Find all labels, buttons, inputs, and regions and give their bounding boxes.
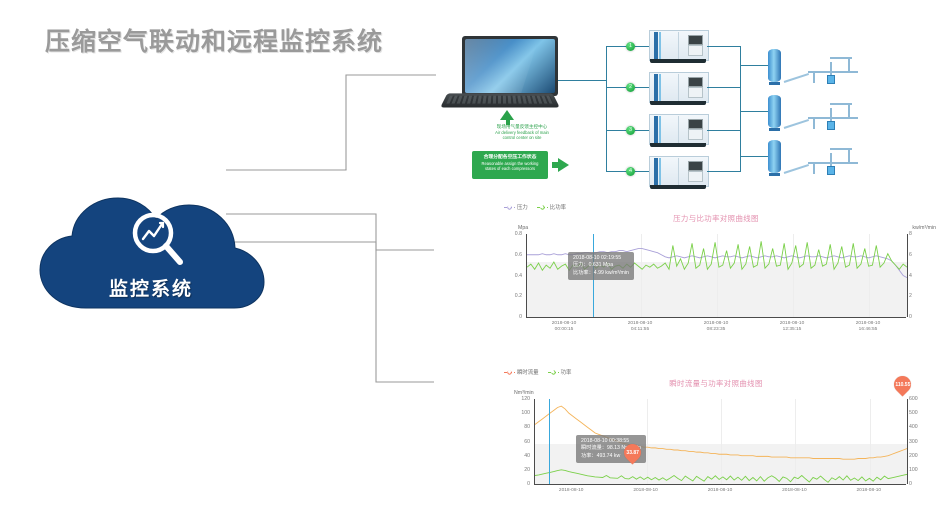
x-tick-date: 2018-08-10: [839, 488, 899, 494]
air-tank-icon: [768, 49, 781, 82]
y-tick-label-right: 500: [909, 410, 918, 416]
air-tool-icon: [827, 121, 835, 130]
y-tick-label-right: 100: [909, 467, 918, 473]
chart1-title: 压力与比功率对照曲线图: [496, 213, 936, 224]
bus-trunk-left: [606, 46, 607, 172]
right-arrow-icon: [558, 158, 569, 172]
y-tick-label: 0: [508, 481, 530, 487]
legend-item[interactable]: 比功率: [537, 203, 566, 211]
x-tick-label: 2018-08-1016:46:55: [838, 321, 898, 333]
air-compressor-icon: [649, 114, 707, 147]
air-compressor-icon: [649, 156, 707, 189]
green-callout-cn: 合理分配各空压工作状态: [472, 154, 548, 161]
cloud-label: 监控系统: [26, 274, 276, 301]
x-tick-label: 2018-08-10: [764, 488, 824, 494]
marker-label: 110.55: [895, 382, 910, 388]
legend-label: 功率: [561, 368, 572, 376]
air-tank-icon: [768, 140, 781, 173]
air-tool-icon: [827, 166, 835, 175]
marker-label: 33.87: [626, 450, 639, 456]
monitoring-system-cloud[interactable]: 监控系统: [26, 190, 296, 325]
collector-out-4: [707, 171, 741, 172]
pipeline-run: [808, 71, 858, 73]
chart-tooltip: 2018-08-10 02:19:55压力：0.631 Mpa比功率：4.99 …: [568, 252, 634, 280]
green-callout-en-line2: states of each compressors: [472, 166, 548, 171]
legend-label: 比功率: [550, 203, 566, 211]
status-node-4[interactable]: 4: [626, 167, 635, 176]
y-tick-label-right: 0: [909, 314, 912, 320]
y-tick-label: 0.6: [500, 252, 522, 258]
pipeline-riser: [813, 71, 815, 83]
y-tick-label-right: 600: [909, 396, 918, 402]
page-title: 压缩空气联动和远程监控系统: [45, 22, 383, 58]
collector-out-2: [707, 87, 741, 88]
y-tick-label: 20: [508, 467, 530, 473]
y-tick-label-right: 400: [909, 424, 918, 430]
y-tick-label: 40: [508, 453, 530, 459]
x-tick-label: 2018-08-1012:35:15: [762, 321, 822, 333]
pipeline-top: [830, 148, 852, 150]
diagram-caption-en: Air delivery feedback of main control ce…: [472, 130, 572, 141]
pipeline-run: [808, 162, 858, 164]
diagram-green-callout: 合理分配各空压工作状态 Reasonable assign the workin…: [472, 151, 548, 179]
chart2-legend: 瞬时流量 功率: [504, 368, 571, 376]
status-node-1[interactable]: 1: [626, 42, 635, 51]
pipeline-riser: [813, 162, 815, 174]
tank-feed-3: [740, 156, 768, 157]
bus-branch-1b: [635, 46, 649, 47]
slide-canvas: 压缩空气联动和远程监控系统 监控系统: [0, 0, 945, 529]
flow-power-chart: 瞬时流量 功率 瞬时流量与功率对照曲线图 Nm³/min 12010080604…: [496, 368, 936, 518]
air-compressor-icon: [649, 30, 707, 63]
chart1-legend: 压力 比功率: [504, 203, 566, 211]
pipeline-riser: [848, 148, 850, 164]
x-tick-date: 2018-08-10: [616, 488, 676, 494]
bus-branch-1: [606, 46, 628, 47]
y-tick-label: 120: [508, 396, 530, 402]
x-tick-time: 16:46:55: [838, 327, 898, 333]
bus-branch-3: [606, 130, 628, 131]
legend-item[interactable]: 压力: [504, 203, 528, 211]
x-tick-label: 2018-08-10: [541, 488, 601, 494]
pressure-power-chart: 压力 比功率 压力与比功率对照曲线图 Mpa kw/m³/min 0.80.60…: [496, 203, 936, 333]
x-tick-label: 2018-08-10: [690, 488, 750, 494]
y-tick-label-right: 4: [909, 273, 912, 279]
y-tick-label-right: 200: [909, 453, 918, 459]
status-node-2[interactable]: 2: [626, 83, 635, 92]
tank-feed-2: [740, 111, 768, 112]
diagram-caption-en-line2: control center on site: [472, 135, 572, 140]
pipeline-top: [830, 103, 852, 105]
chart2-title: 瞬时流量与功率对照曲线图: [496, 378, 936, 389]
system-diagram: 现场用气量反馈主控中心 Air delivery feedback of mai…: [430, 18, 945, 208]
x-tick-label: 2018-08-10: [616, 488, 676, 494]
legend-label: 压力: [517, 203, 528, 211]
x-tick-label: 2018-08-10: [839, 488, 899, 494]
y-tick-label: 60: [508, 439, 530, 445]
pipeline-icon: [784, 119, 809, 129]
chart1-x-axis: [526, 317, 906, 318]
legend-label: 瞬时流量: [517, 368, 539, 376]
chart-cursor[interactable]: [549, 399, 550, 484]
bus-branch-3b: [635, 130, 649, 131]
collector-out-1: [707, 46, 741, 47]
y-tick-label: 80: [508, 424, 530, 430]
pipeline-top: [830, 57, 852, 59]
collector-out-3: [707, 130, 741, 131]
x-tick-date: 2018-08-10: [690, 488, 750, 494]
legend-item[interactable]: 瞬时流量: [504, 368, 539, 376]
pipeline-riser: [848, 57, 850, 73]
y-tick-label-right: 6: [909, 252, 912, 258]
x-tick-date: 2018-08-10: [541, 488, 601, 494]
tooltip-line-1: 压力：0.631 Mpa: [573, 262, 629, 269]
air-compressor-icon: [649, 72, 707, 105]
x-tick-date: 2018-08-10: [764, 488, 824, 494]
pipeline-riser: [813, 117, 815, 129]
x-tick-time: 12:35:15: [762, 327, 822, 333]
air-tank-icon: [768, 95, 781, 128]
legend-marker-specific-power: [537, 205, 548, 210]
y-tick-label-right: 300: [909, 439, 918, 445]
chart2-x-axis: [534, 484, 906, 485]
magnifier-chart-icon: [130, 210, 188, 270]
legend-marker-power: [548, 370, 559, 375]
status-node-3[interactable]: 3: [626, 126, 635, 135]
y-tick-label-right: 8: [909, 231, 912, 237]
bus-branch-4b: [635, 171, 649, 172]
tooltip-line-2: 比功率：4.99 kw/m³/min: [573, 270, 629, 277]
air-tool-icon: [827, 75, 835, 84]
y-tick-label: 0.8: [500, 231, 522, 237]
tank-feed-1: [740, 65, 768, 66]
pipeline-icon: [784, 73, 809, 83]
bus-branch-2b: [635, 87, 649, 88]
y-tick-label-right: 2: [909, 293, 912, 299]
pipeline-riser: [848, 103, 850, 119]
x-tick-label: 2018-08-1008:23:35: [686, 321, 746, 333]
x-tick-time: 08:23:35: [686, 327, 746, 333]
data-point-marker[interactable]: 110.55: [890, 372, 914, 396]
y-tick-label: 100: [508, 410, 530, 416]
keyboard-icon: [440, 93, 559, 107]
pipeline-run: [808, 117, 858, 119]
y-tick-label-right: 0: [909, 481, 912, 487]
legend-item[interactable]: 功率: [548, 368, 572, 376]
pipeline-icon: [784, 164, 809, 174]
x-tick-label: 2018-08-1000:00:15: [534, 321, 594, 333]
monitor-link-line: [558, 80, 606, 81]
x-tick-time: 00:00:15: [534, 327, 594, 333]
x-tick-label: 2018-08-1004:11:55: [610, 321, 670, 333]
y-tick-label: 0.4: [500, 273, 522, 279]
legend-marker-pressure: [504, 205, 515, 210]
bus-branch-4: [606, 171, 628, 172]
chart1-y-unit-right: kw/m³/min: [912, 225, 936, 231]
y-tick-label: 0: [500, 314, 522, 320]
x-tick-time: 04:11:55: [610, 327, 670, 333]
y-tick-label: 0.2: [500, 293, 522, 299]
bus-branch-2: [606, 87, 628, 88]
legend-marker-flow: [504, 370, 515, 375]
series-line: [535, 470, 907, 482]
